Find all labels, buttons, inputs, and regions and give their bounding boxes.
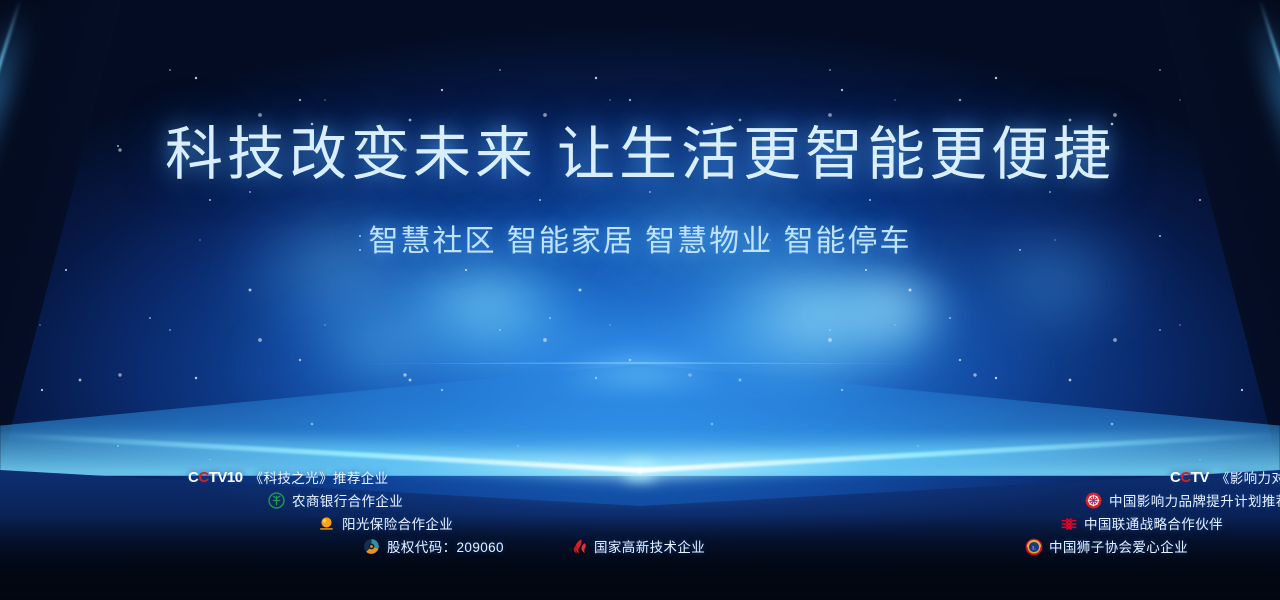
svg-text:L: L	[1032, 545, 1036, 551]
sunshine-insurance-icon	[318, 515, 335, 532]
credential-label: 《科技之光》推荐企业	[250, 467, 389, 487]
page-title: 科技改变未来 让生活更智能更便捷	[0, 126, 1280, 184]
credential-label: 中国狮子协会爱心企业	[1049, 536, 1188, 556]
credential-label: 《影响力对话》合作伙伴	[1216, 467, 1280, 487]
cctv-logo-icon: CCTV	[1170, 469, 1209, 486]
national-hi-tech-icon	[570, 538, 587, 555]
china-influence-brand-icon	[1085, 492, 1102, 509]
credential-item-cctv-dialogue: CCTV 《影响力对话》合作伙伴	[760, 466, 1280, 488]
promo-banner: 科技改变未来 让生活更智能更便捷 智慧社区 智能家居 智慧物业 智能停车 CCT…	[0, 0, 1280, 600]
credential-item-lions-club: L 中国狮子协会爱心企业	[760, 535, 1280, 557]
credentials-strip: CCTV10 《科技之光》推荐企业 农商银行合作企业	[0, 466, 1280, 586]
credential-label: 国家高新技术企业	[594, 536, 705, 556]
credential-label: 中国联通战略合作伙伴	[1084, 513, 1223, 533]
rural-commercial-bank-icon	[268, 492, 285, 509]
credentials-right-column: CCTV 《影响力对话》合作伙伴 中国影响力品牌提升计划推荐品牌	[760, 466, 1280, 558]
page-subtitle: 智慧社区 智能家居 智慧物业 智能停车	[0, 216, 1280, 260]
equity-code-icon	[363, 538, 380, 555]
cctv-logo-icon: CCTV10	[188, 469, 243, 486]
credential-item-china-unicom: 中国联通战略合作伙伴	[760, 512, 1280, 534]
credential-label: 农商银行合作企业	[292, 490, 403, 510]
credential-label: 中国影响力品牌提升计划推荐品牌	[1109, 490, 1280, 510]
lions-clubs-icon: L	[1025, 538, 1042, 555]
credential-item-influence-brand: 中国影响力品牌提升计划推荐品牌	[760, 489, 1280, 511]
china-unicom-icon	[1060, 515, 1077, 532]
